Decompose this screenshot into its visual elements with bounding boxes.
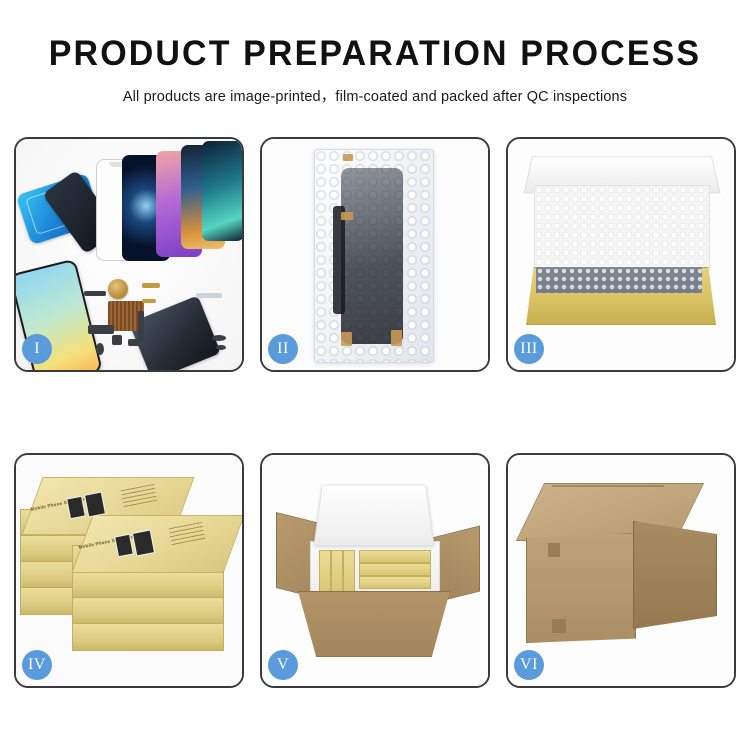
step-badge-6: VI [514, 650, 544, 680]
gold-connector-icon [142, 299, 156, 303]
header: PRODUCT PREPARATION PROCESS All products… [0, 0, 750, 106]
tape-icon [341, 332, 352, 346]
carton-side-face-icon [633, 521, 717, 629]
step-badge-1: I [22, 334, 52, 364]
step-badge-3: III [514, 334, 544, 364]
tape-icon [341, 212, 353, 220]
camera-module-icon [96, 343, 104, 355]
flex-cable-icon [333, 206, 345, 314]
photo-boxes-stacked: Mobile Phone Spare Parts Mobile Phone Sp… [16, 455, 242, 686]
photo-inner-carton-open [508, 139, 734, 370]
chip-icon [88, 325, 114, 334]
screw-icon [212, 335, 226, 341]
step-badge-2: II [268, 334, 298, 364]
carton-tape-icon [548, 543, 560, 557]
tweezers-icon [196, 293, 222, 298]
tape-icon [391, 330, 402, 346]
photo-sealed-carton [508, 455, 734, 686]
process-step-2: II [260, 137, 490, 372]
step-badge-5: V [268, 650, 298, 680]
carton-front-face-icon [526, 533, 636, 643]
master-carton-body-icon [298, 591, 450, 657]
screw-icon [216, 345, 226, 350]
bubble-wrap-bag-icon [314, 149, 434, 363]
process-step-6: VI [506, 453, 736, 688]
gold-connector-icon [142, 283, 160, 288]
carton-seam-icon [552, 485, 665, 487]
flex-cable-icon [138, 311, 144, 341]
process-step-3: III [506, 137, 736, 372]
page-title: PRODUCT PREPARATION PROCESS [11, 36, 739, 71]
product-preparation-infographic: PRODUCT PREPARATION PROCESS All products… [0, 0, 750, 750]
page-subtitle: All products are image-printed，film-coat… [0, 85, 750, 106]
photo-bubble-wrapped-part [262, 139, 488, 370]
bubble-wrapped-contents-icon [536, 267, 702, 293]
process-step-4: Mobile Phone Spare Parts Mobile Phone Sp… [14, 453, 244, 688]
process-step-5: V [260, 453, 490, 688]
teal-gradient-phone-icon [202, 141, 242, 241]
speaker-coil-icon [108, 279, 128, 299]
photo-product-components [16, 139, 242, 370]
box-stack-icon: Mobile Phone Spare Parts Mobile Phone Sp… [20, 471, 238, 671]
tape-icon [343, 154, 353, 161]
step-badge-4: IV [22, 650, 52, 680]
wrapped-lcd-part-icon [341, 168, 403, 344]
foam-lid-icon [313, 485, 434, 546]
chip-icon [112, 335, 122, 345]
process-step-grid: I II [14, 137, 736, 688]
chip-icon [84, 291, 106, 296]
carton-tape-icon [552, 619, 566, 633]
foam-sheet-icon [534, 185, 710, 271]
photo-master-carton-packing [262, 455, 488, 686]
process-step-1: I [14, 137, 244, 372]
